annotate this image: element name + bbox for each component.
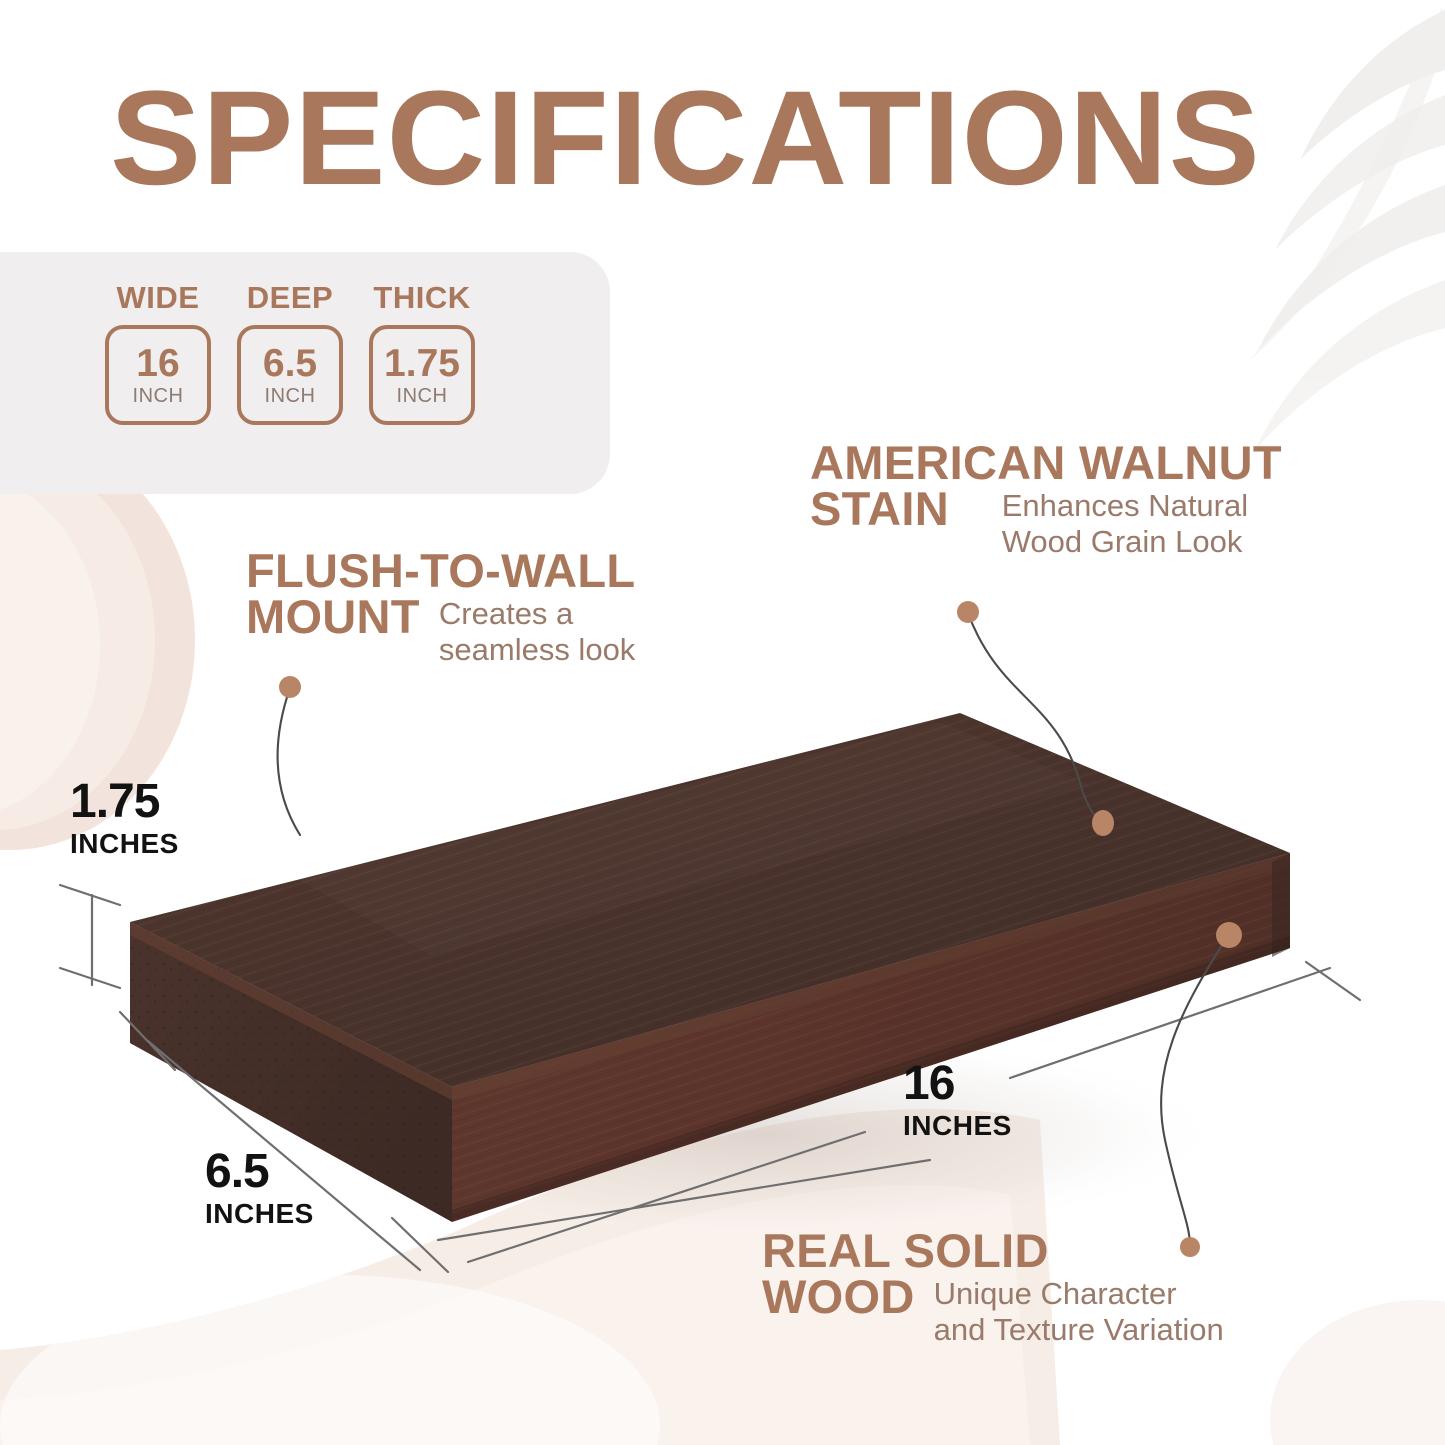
callout-sub-flush-line1: Creates a xyxy=(439,596,636,632)
spec-value-deep: 6.5 xyxy=(263,344,317,383)
callout-heading-american-line1: AMERICAN WALNUT xyxy=(810,440,1282,486)
spec-badge-deep: DEEP 6.5 INCH xyxy=(237,280,343,425)
spec-label-deep: DEEP xyxy=(237,280,343,316)
dimension-unit-width: INCHES xyxy=(903,1112,1012,1140)
dimension-label-width: 16 INCHES xyxy=(903,1060,1012,1140)
spec-unit-wide: INCH xyxy=(133,386,184,406)
spec-box-deep: 6.5 INCH xyxy=(237,325,343,425)
spec-unit-thick: INCH xyxy=(397,386,448,406)
spec-badge-thick: THICK 1.75 INCH xyxy=(369,280,475,425)
callout-american-walnut-stain: AMERICAN WALNUT STAIN Enhances Natural W… xyxy=(810,440,1282,560)
callout-heading-flush-line1: FLUSH-TO-WALL xyxy=(246,548,635,594)
callout-real-solid-wood: REAL SOLID WOOD Unique Character and Tex… xyxy=(762,1228,1224,1348)
callout-sub-real-line1: Unique Character xyxy=(934,1276,1224,1312)
dimension-label-thickness: 1.75 INCHES xyxy=(70,778,179,858)
spec-box-wide: 16 INCH xyxy=(105,325,211,425)
spec-badge-row: WIDE 16 INCH DEEP 6.5 INCH THICK 1.75 IN… xyxy=(105,280,475,425)
callout-sub-american-line1: Enhances Natural xyxy=(1002,488,1282,524)
spec-value-wide: 16 xyxy=(136,344,179,383)
callout-heading-real-line2: WOOD xyxy=(762,1274,915,1320)
dimension-value-thickness: 1.75 xyxy=(70,778,179,826)
dimension-value-width: 16 xyxy=(903,1060,1012,1108)
dimension-unit-thickness: INCHES xyxy=(70,830,179,858)
callout-sub-flush-line2: seamless look xyxy=(439,632,636,668)
callout-sub-real-line2: and Texture Variation xyxy=(934,1312,1224,1348)
spec-label-thick: THICK xyxy=(369,280,475,316)
spec-label-wide: WIDE xyxy=(105,280,211,316)
callout-sub-american-line2: Wood Grain Look xyxy=(1002,524,1282,560)
callout-heading-american-line2: STAIN xyxy=(810,486,983,532)
callout-flush-to-wall-mount: FLUSH-TO-WALL MOUNT Creates a seamless l… xyxy=(246,548,635,668)
callout-heading-real-line1: REAL SOLID xyxy=(762,1228,1224,1274)
specifications-panel: WIDE 16 INCH DEEP 6.5 INCH THICK 1.75 IN… xyxy=(0,252,610,494)
spec-unit-deep: INCH xyxy=(265,386,316,406)
spec-box-thick: 1.75 INCH xyxy=(369,325,475,425)
dimension-label-depth: 6.5 INCHES xyxy=(205,1148,314,1228)
spec-badge-wide: WIDE 16 INCH xyxy=(105,280,211,425)
dimension-value-depth: 6.5 xyxy=(205,1148,314,1196)
dimension-unit-depth: INCHES xyxy=(205,1200,314,1228)
callout-heading-flush-line2: MOUNT xyxy=(246,594,420,640)
spec-value-thick: 1.75 xyxy=(384,344,460,383)
page-title: SPECIFICATIONS xyxy=(110,72,1261,206)
